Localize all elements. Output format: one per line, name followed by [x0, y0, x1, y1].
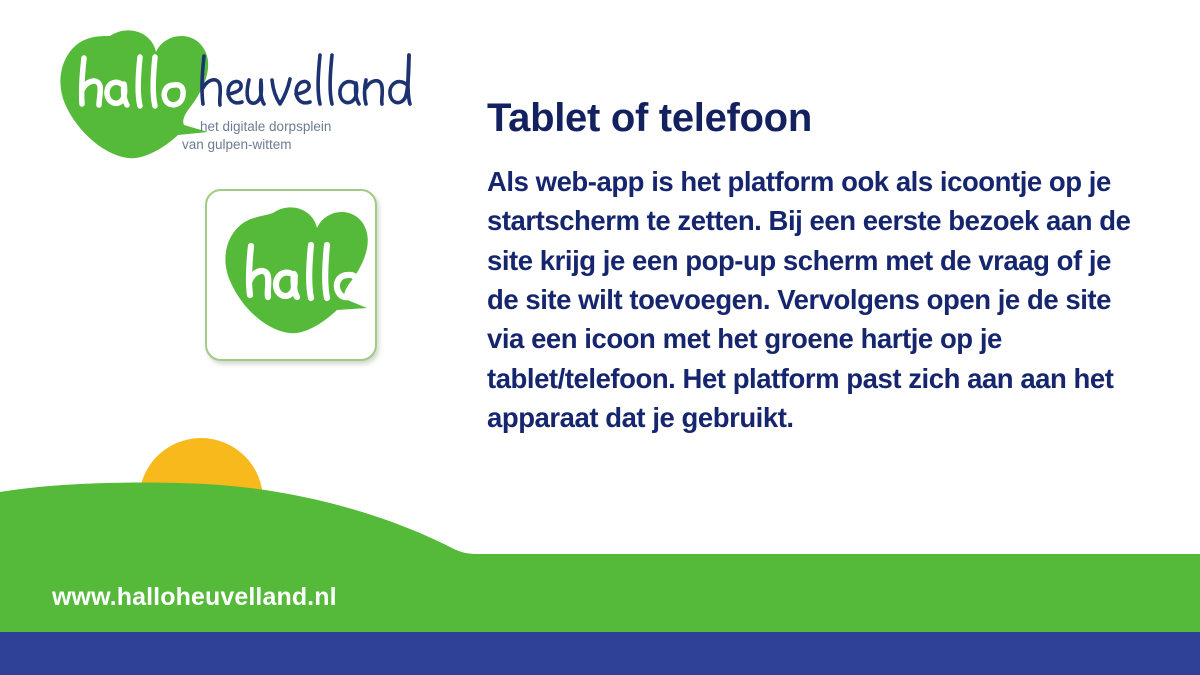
page-title: Tablet of telefoon: [487, 96, 1147, 140]
slide-canvas: het digitale dorpsplein van gulpen-witte…: [0, 0, 1200, 675]
logo-tagline-line2: van gulpen-wittem: [182, 137, 292, 152]
content-column: Tablet of telefoon Als web-app is het pl…: [487, 96, 1147, 437]
footer-blue-bar: [0, 632, 1200, 675]
body-paragraph: Als web-app is het platform ook als icoo…: [487, 162, 1137, 437]
footer-website-url[interactable]: www.halloheuvelland.nl: [52, 583, 337, 612]
brand-logo: het digitale dorpsplein van gulpen-witte…: [32, 28, 432, 178]
logo-tagline-line1: het digitale dorpsplein: [200, 119, 331, 134]
sun-shape: [139, 438, 263, 500]
logo-heuvelland-text: [202, 55, 410, 105]
web-app-icon[interactable]: [205, 189, 377, 361]
